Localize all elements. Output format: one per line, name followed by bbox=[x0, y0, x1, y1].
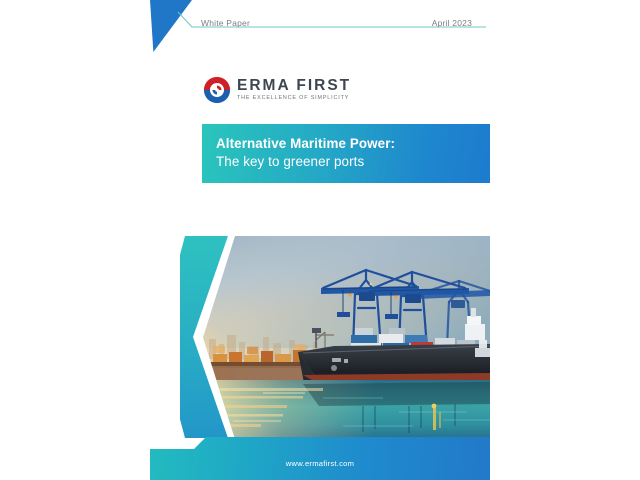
logo-tagline: THE EXCELLENCE OF SIMPLICITY bbox=[237, 96, 351, 102]
title-band: Alternative Maritime Power: The key to g… bbox=[202, 124, 490, 183]
hero-image-block bbox=[180, 232, 490, 442]
document-page: White Paper April 2023 ERMA FIRST THE EX… bbox=[150, 0, 490, 480]
logo-wordmark: ERMA FIRST THE EXCELLENCE OF SIMPLICITY bbox=[237, 78, 351, 102]
erma-first-swirl-icon bbox=[203, 76, 231, 104]
footer-website-url[interactable]: www.ermafirst.com bbox=[150, 459, 490, 468]
hero-port-photo bbox=[203, 236, 490, 439]
title-line-2: The key to greener ports bbox=[216, 154, 364, 169]
header-date-label: April 2023 bbox=[432, 18, 472, 28]
header-triangle-accent bbox=[150, 0, 192, 52]
footer-band: www.ermafirst.com bbox=[150, 437, 490, 480]
logo-company-name: ERMA FIRST bbox=[237, 78, 351, 94]
header-doc-type-label: White Paper bbox=[201, 18, 250, 28]
title-line-1: Alternative Maritime Power: bbox=[216, 136, 395, 151]
brand-logo: ERMA FIRST THE EXCELLENCE OF SIMPLICITY bbox=[203, 76, 351, 104]
